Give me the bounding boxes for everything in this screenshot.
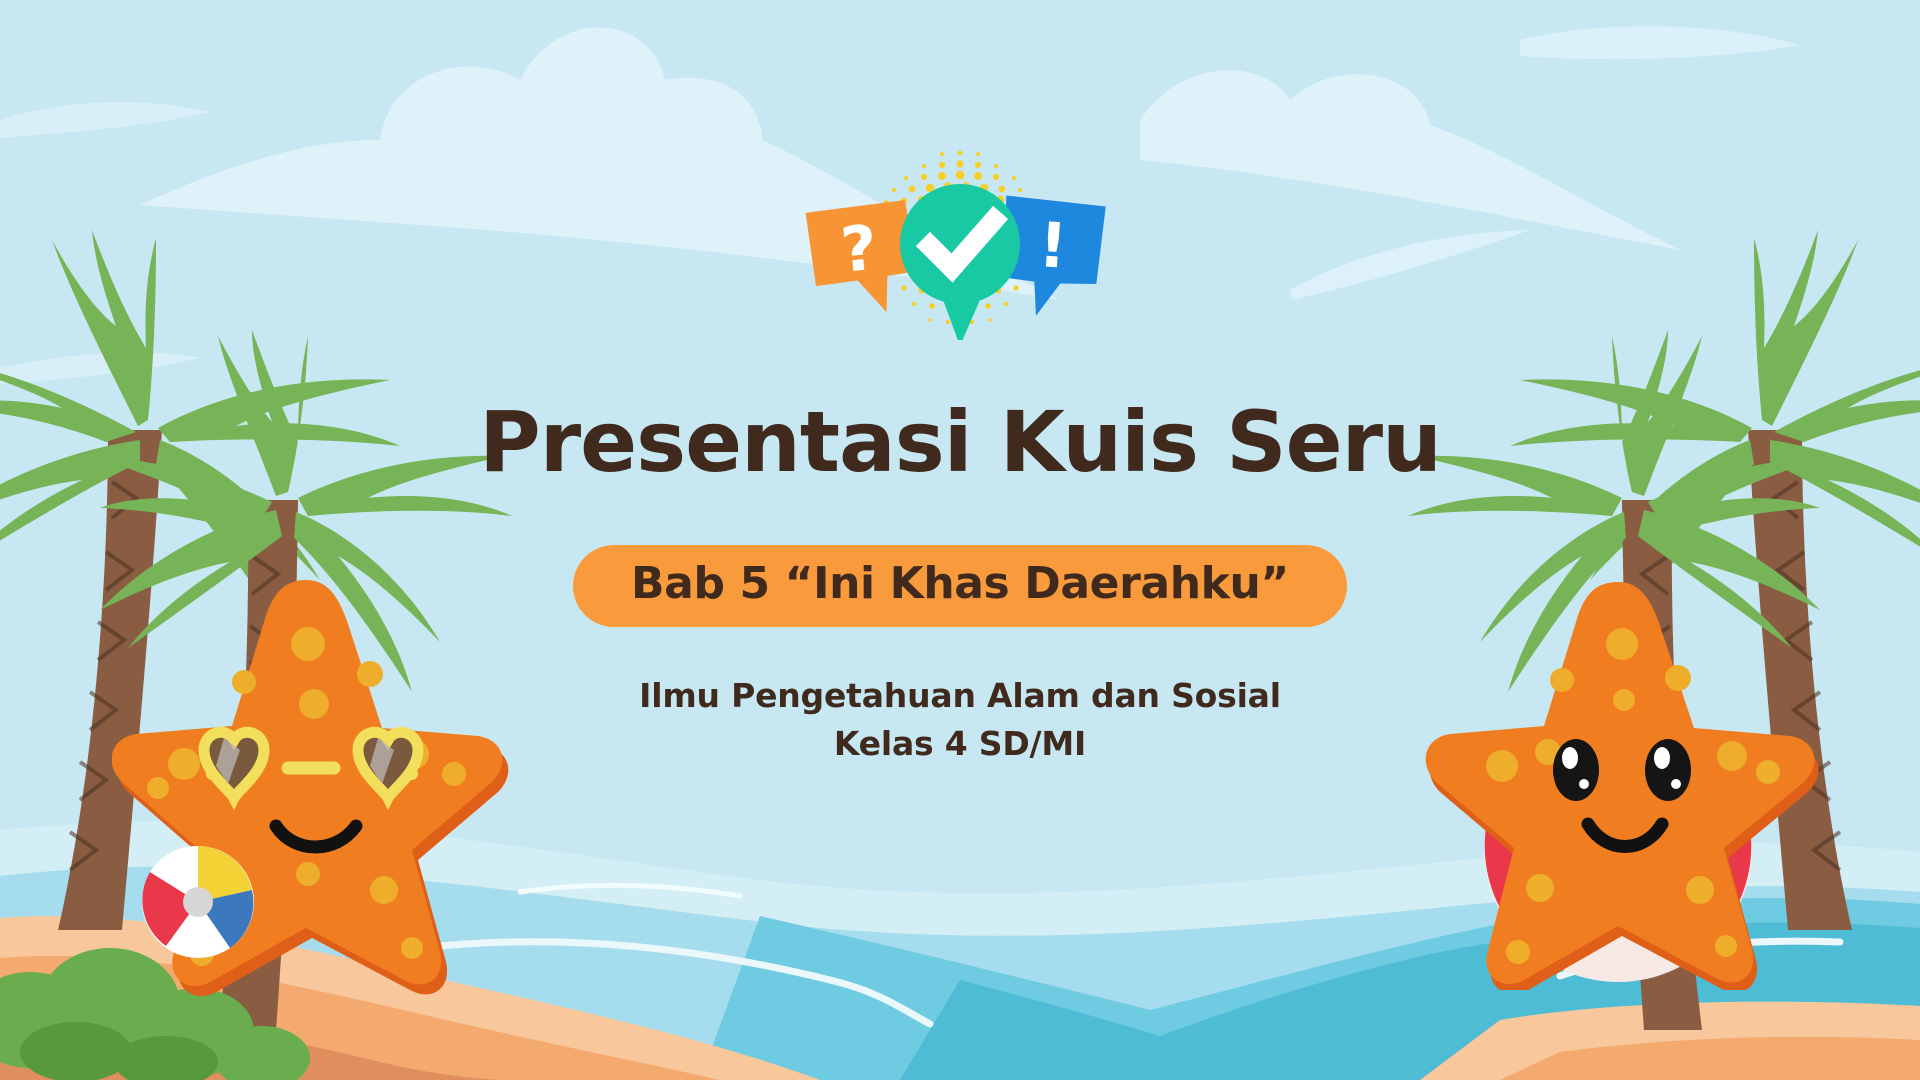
question-mark-glyph: ?	[838, 211, 880, 287]
page-title: Presentasi Kuis Seru	[0, 400, 1920, 484]
chapter-badge[interactable]: Bab 5 “Ini Khas Daerahku”	[573, 545, 1347, 627]
starfish-with-sunglasses	[112, 578, 512, 998]
chapter-badge-area: Bab 5 “Ini Khas Daerahku”	[0, 545, 1920, 627]
starfish-with-lifering	[1410, 570, 1830, 990]
check-bubble	[900, 184, 1020, 340]
subtitle-area: Ilmu Pengetahuan Alam dan Sosial Kelas 4…	[0, 672, 1920, 768]
quiz-bubbles-logo: ? !	[790, 140, 1130, 340]
grade-line: Kelas 4 SD/MI	[0, 720, 1920, 768]
beach-ball-icon	[142, 846, 254, 958]
subject-line: Ilmu Pengetahuan Alam dan Sosial	[0, 672, 1920, 720]
title-slide: ? ! Presentasi Kuis Seru Bab 5 “Ini Khas…	[0, 0, 1920, 1080]
exclamation-mark-glyph: !	[1036, 208, 1069, 283]
title-area: Presentasi Kuis Seru	[0, 400, 1920, 484]
